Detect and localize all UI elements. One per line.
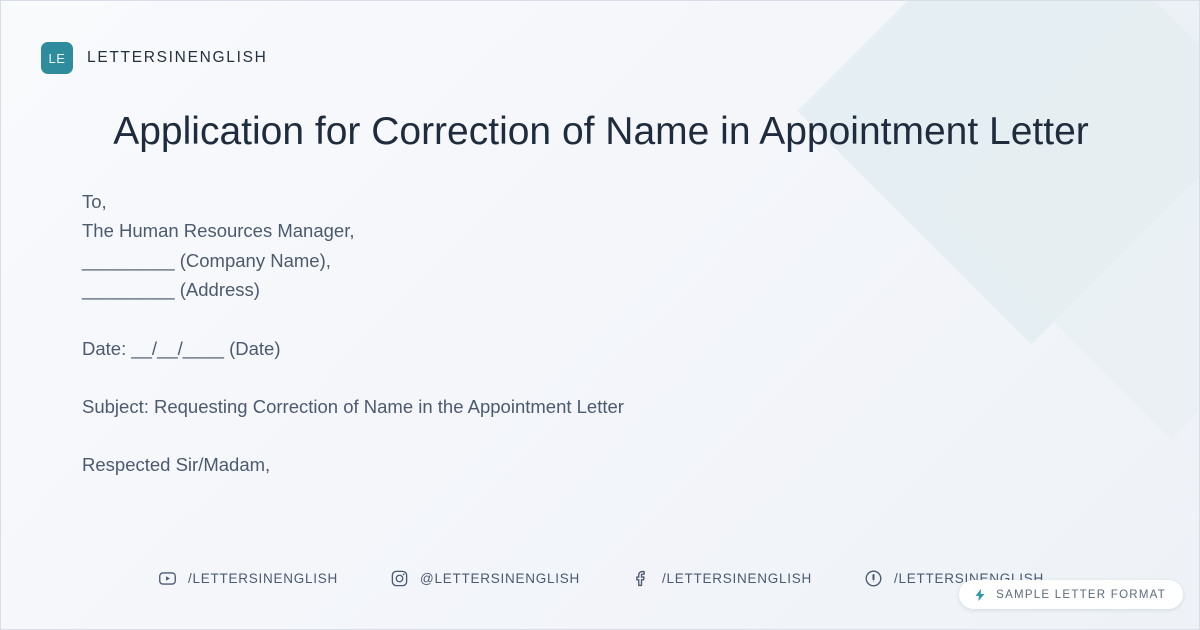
pinterest-icon [864, 569, 883, 588]
sample-letter-format-badge[interactable]: SAMPLE LETTER FORMAT [959, 580, 1183, 609]
brand-logo[interactable]: LE LETTERSINENGLISH [41, 42, 268, 74]
date-line: Date: __/__/____ (Date) [82, 334, 902, 363]
brand-mark-icon: LE [41, 42, 73, 74]
social-link-youtube[interactable]: /LETTERSINENGLISH [158, 569, 338, 588]
social-handle: /LETTERSINENGLISH [662, 571, 812, 586]
social-link-instagram[interactable]: @LETTERSINENGLISH [390, 569, 580, 588]
page-title: Application for Correction of Name in Ap… [1, 109, 1200, 155]
recipient-line-4: _________ (Address) [82, 275, 902, 304]
recipient-block: To, The Human Resources Manager, _______… [82, 187, 902, 305]
facebook-icon [632, 569, 651, 588]
social-handle: @LETTERSINENGLISH [420, 571, 580, 586]
salutation-line: Respected Sir/Madam, [82, 450, 902, 479]
brand-name: LETTERSINENGLISH [87, 49, 268, 67]
card-content: LE LETTERSINENGLISH Application for Corr… [1, 1, 1199, 629]
lightning-bolt-icon [973, 588, 987, 602]
instagram-icon [390, 569, 409, 588]
social-link-facebook[interactable]: /LETTERSINENGLISH [632, 569, 812, 588]
badge-label: SAMPLE LETTER FORMAT [996, 589, 1166, 601]
social-handle: /LETTERSINENGLISH [188, 571, 338, 586]
letter-body: To, The Human Resources Manager, _______… [82, 187, 902, 480]
recipient-line-2: The Human Resources Manager, [82, 216, 902, 245]
letter-card: LE LETTERSINENGLISH Application for Corr… [0, 0, 1200, 630]
recipient-line-3: _________ (Company Name), [82, 246, 902, 275]
youtube-icon [158, 569, 177, 588]
subject-line: Subject: Requesting Correction of Name i… [82, 392, 902, 421]
recipient-line-1: To, [82, 187, 902, 216]
